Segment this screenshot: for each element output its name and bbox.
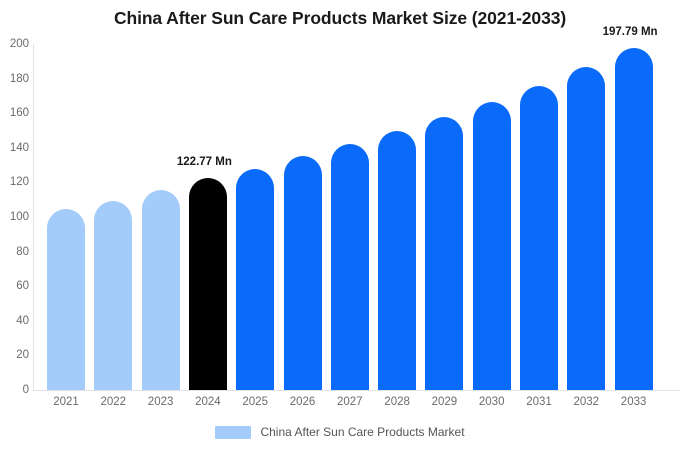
x-axis-tick-2021: 2021 — [42, 396, 90, 408]
x-axis-tick-2031: 2031 — [515, 396, 563, 408]
y-axis-tick-80: 80 — [3, 246, 29, 258]
y-axis-tick-60: 60 — [3, 280, 29, 292]
x-axis-tick-2032: 2032 — [562, 396, 610, 408]
y-axis-tick-20: 20 — [3, 349, 29, 361]
x-axis-tick-2029: 2029 — [420, 396, 468, 408]
y-axis-tick-180: 180 — [3, 73, 29, 85]
x-axis-tick-2025: 2025 — [231, 396, 279, 408]
y-axis-tick-100: 100 — [3, 211, 29, 223]
x-axis-tick-2030: 2030 — [468, 396, 516, 408]
y-axis-tick-120: 120 — [3, 176, 29, 188]
legend-swatch-icon — [215, 426, 251, 439]
y-axis-tick-labels: 200180160140120100806040200 — [0, 0, 29, 450]
legend-item-label: China After Sun Care Products Market — [260, 425, 464, 439]
data-label-2024: 122.77 Mn — [177, 156, 232, 168]
y-axis-tick-160: 160 — [3, 107, 29, 119]
x-axis-tick-labels: 2021202220232024202520262027202820292030… — [33, 0, 680, 450]
y-axis-tick-0: 0 — [3, 384, 29, 396]
x-axis-tick-2027: 2027 — [326, 396, 374, 408]
y-axis-tick-40: 40 — [3, 315, 29, 327]
x-axis-tick-2033: 2033 — [610, 396, 658, 408]
x-axis-tick-2026: 2026 — [279, 396, 327, 408]
y-axis-tick-140: 140 — [3, 142, 29, 154]
x-axis-tick-2023: 2023 — [137, 396, 185, 408]
data-label-2033: 197.79 Mn — [603, 26, 658, 38]
x-axis-tick-2022: 2022 — [89, 396, 137, 408]
x-axis-tick-2028: 2028 — [373, 396, 421, 408]
chart-container: China After Sun Care Products Market Siz… — [0, 0, 680, 450]
x-axis-tick-2024: 2024 — [184, 396, 232, 408]
y-axis-tick-200: 200 — [3, 38, 29, 50]
chart-legend: China After Sun Care Products Market — [0, 425, 680, 439]
